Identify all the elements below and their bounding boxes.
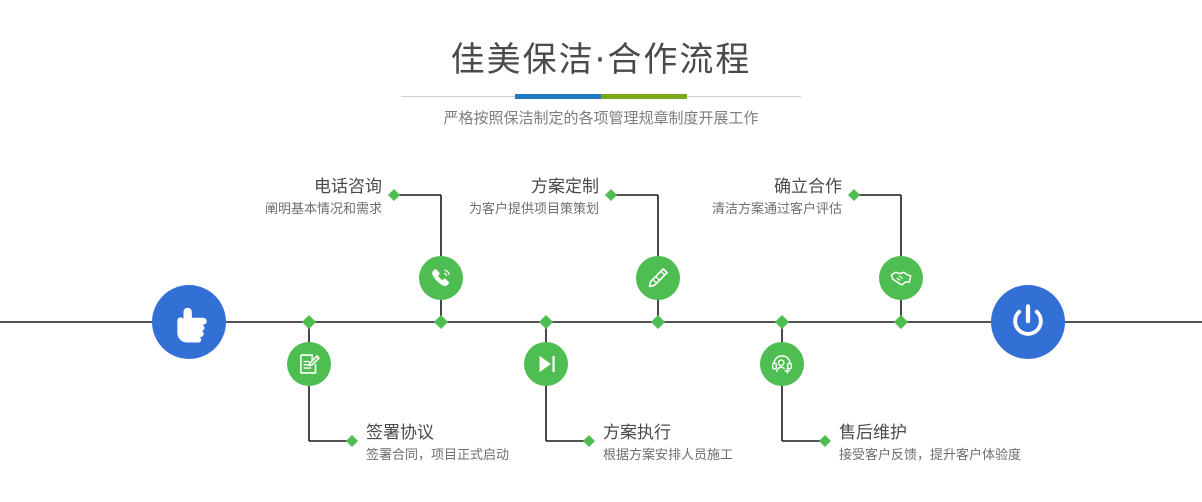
step-node-sign-agreement[interactable] <box>287 342 331 386</box>
page-title: 佳美保洁·合作流程 <box>0 38 1202 82</box>
step-desc: 阐明基本情况和需求 <box>265 199 382 221</box>
step-title: 确立合作 <box>712 176 842 198</box>
step-label-sign-agreement: 签署协议 签署合同，项目正式启动 <box>366 422 509 467</box>
end-node[interactable] <box>991 285 1065 359</box>
header: 佳美保洁·合作流程 严格按照保洁制定的各项管理规章制度开展工作 <box>0 0 1202 140</box>
step-title: 签署协议 <box>366 422 509 444</box>
title-divider <box>401 94 801 99</box>
step-node-establish-cooperation[interactable] <box>879 256 923 300</box>
phone-call-icon <box>428 265 454 291</box>
power-button-icon <box>1006 300 1050 344</box>
step-title: 方案定制 <box>469 176 599 198</box>
step-desc: 签署合同，项目正式启动 <box>366 445 509 467</box>
page-subtitle: 严格按照保洁制定的各项管理规章制度开展工作 <box>0 106 1202 130</box>
step-label-plan-execution: 方案执行 根据方案安排人员施工 <box>603 422 733 467</box>
divider-segment-blue <box>515 94 601 99</box>
step-node-plan-customize[interactable] <box>636 256 680 300</box>
process-flow-diagram: 电话咨询 阐明基本情况和需求 方案定制 为客户提供项目策策划 确立合作 <box>0 140 1202 502</box>
sign-document-icon <box>296 351 322 377</box>
customer-service-icon <box>769 351 795 377</box>
step-desc: 接受客户反馈，提升客户体验度 <box>839 445 1021 467</box>
step-desc: 清洁方案通过客户评估 <box>712 199 842 221</box>
step-title: 方案执行 <box>603 422 733 444</box>
handshake-icon <box>888 265 914 291</box>
pencil-edit-icon <box>645 265 671 291</box>
play-execute-icon <box>533 351 559 377</box>
step-title: 售后维护 <box>839 422 1021 444</box>
cooperation-process-infographic: 佳美保洁·合作流程 严格按照保洁制定的各项管理规章制度开展工作 <box>0 0 1202 502</box>
step-label-plan-customize: 方案定制 为客户提供项目策策划 <box>469 176 599 221</box>
step-desc: 为客户提供项目策策划 <box>469 199 599 221</box>
step-desc: 根据方案安排人员施工 <box>603 445 733 467</box>
step-node-plan-execution[interactable] <box>524 342 568 386</box>
step-title: 电话咨询 <box>265 176 382 198</box>
step-node-phone-call[interactable] <box>419 256 463 300</box>
step-label-phone-call: 电话咨询 阐明基本情况和需求 <box>265 176 382 221</box>
step-node-after-sales[interactable] <box>760 342 804 386</box>
start-node[interactable] <box>152 285 226 359</box>
pointing-hand-icon <box>167 300 211 344</box>
step-label-establish-cooperation: 确立合作 清洁方案通过客户评估 <box>712 176 842 221</box>
step-label-after-sales: 售后维护 接受客户反馈，提升客户体验度 <box>839 422 1021 467</box>
divider-segment-green <box>601 94 687 99</box>
